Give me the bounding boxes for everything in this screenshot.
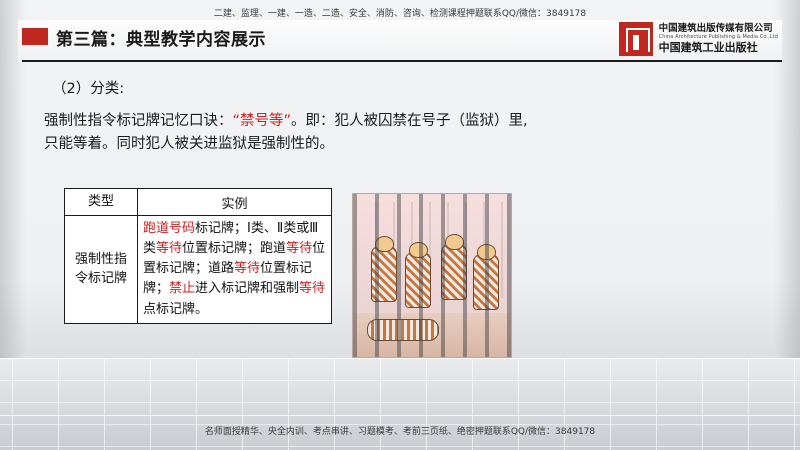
example-seg-0: 跑道号码 <box>143 221 195 236</box>
table-cell-type: 强制性指令标记牌 <box>65 216 138 324</box>
example-seg-13: 等待 <box>299 281 325 296</box>
floor-reflection-line <box>0 415 800 416</box>
table-header-type: 类型 <box>65 189 138 216</box>
bottom-watermark: 名师面授精华、央全内训、考点串讲、习题模考、考前三页纸、绝密押题联系QQ/微信：… <box>0 424 800 437</box>
cartoon-background <box>353 194 511 357</box>
cartoon-cell-bars <box>353 194 511 357</box>
paragraph-1-part-b: 。即：犯人被囚禁在号子（监狱）里, <box>291 113 528 129</box>
example-seg-3: 等待 <box>156 241 182 256</box>
section-heading: （2）分类: <box>52 78 756 100</box>
table-row: 强制性指令标记牌 跑道号码标记牌；Ⅰ类、Ⅱ类或Ⅲ类等待位置标记牌；跑道等待位置标… <box>65 216 332 324</box>
paragraph-1-part-a: 强制性指令标记牌记忆口诀： <box>44 113 233 129</box>
prison-cartoon-image <box>352 193 512 358</box>
publisher-name-en: China Architecture Publishing & Media Co… <box>659 35 778 41</box>
top-watermark: 二建、监理、一建、一造、二造、安全、消防、咨询、检测课程押题联系QQ/微信：38… <box>0 6 800 19</box>
header-divider <box>22 60 782 62</box>
classification-table: 类型 实例 强制性指令标记牌 跑道号码标记牌；Ⅰ类、Ⅱ类或Ⅲ类等待位置标记牌；跑… <box>64 188 332 324</box>
example-seg-8: 道路 <box>208 261 234 276</box>
slide: 二建、监理、一建、一造、二造、安全、消防、咨询、检测课程押题联系QQ/微信：38… <box>0 0 800 450</box>
paragraph-line-1: 强制性指令标记牌记忆口诀：“禁号等”。即：犯人被囚禁在号子（监狱）里, <box>44 110 756 132</box>
table-header-example: 实例 <box>138 189 332 216</box>
example-seg-14: 点标记牌。 <box>143 302 208 317</box>
example-seg-5: 牌；跑道 <box>234 241 286 256</box>
example-seg-1: 标记牌；Ⅰ类、 <box>195 221 277 236</box>
building-logo-icon <box>619 22 653 56</box>
example-seg-6: 等待 <box>286 241 312 256</box>
paragraph-1-mnemonic: “禁号等” <box>233 113 292 129</box>
paragraph-line-2: 只能等着。同时犯人被关进监狱是强制性的。 <box>44 133 756 155</box>
slide-body: （2）分类: 强制性指令标记牌记忆口诀：“禁号等”。即：犯人被囚禁在号子（监狱）… <box>44 78 756 155</box>
header-accent-tab <box>22 28 48 45</box>
example-seg-11: 禁止 <box>169 281 195 296</box>
example-seg-12: 进入标记牌和强制 <box>195 281 299 296</box>
table-cell-example: 跑道号码标记牌；Ⅰ类、Ⅱ类或Ⅲ类等待位置标记牌；跑道等待位置标记牌；道路等待位置… <box>138 216 332 324</box>
page-title: 第三篇：典型教学内容展示 <box>56 25 266 50</box>
publisher-imprint: 中国建筑工业出版社 <box>659 42 778 55</box>
floor-horizon-line <box>0 358 800 359</box>
example-seg-4: 位置标记 <box>182 241 234 256</box>
table-header-row: 类型 实例 <box>65 189 332 216</box>
example-seg-9: 等待 <box>234 261 260 276</box>
publisher-text: 中国建筑出版传媒有限公司 China Architecture Publishi… <box>659 24 778 54</box>
publisher-logo: 中国建筑出版传媒有限公司 China Architecture Publishi… <box>619 22 778 56</box>
